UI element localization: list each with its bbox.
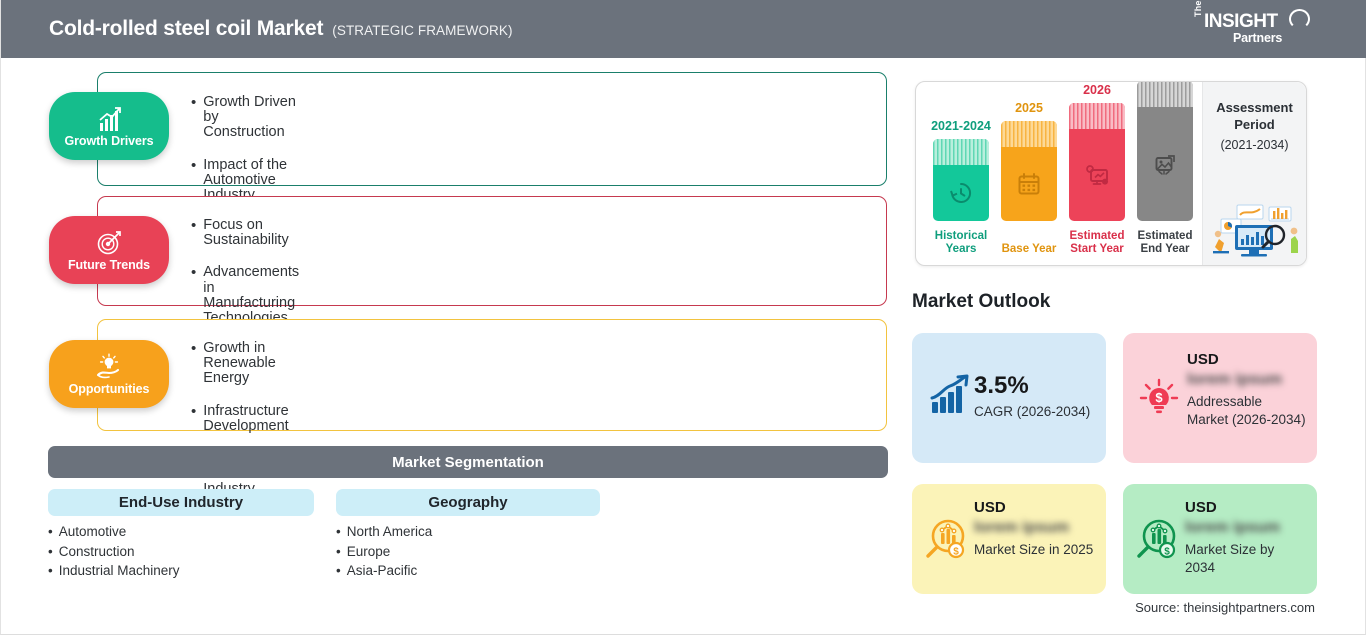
bar-stripe-top: [1069, 103, 1125, 129]
bar-shape: [1001, 121, 1057, 221]
outlook-card-market-size-2034[interactable]: $ USD lorem ipsum Market Size by 2034: [1123, 484, 1317, 594]
cagr-text-group: 3.5% CAGR (2026-2034): [974, 371, 1090, 421]
svg-text:$: $: [1155, 390, 1163, 405]
logo-arc-icon: [1289, 9, 1310, 29]
outlook-card-market-size-2025[interactable]: $ USD lorem ipsum Market Size in 2025: [912, 484, 1106, 594]
analytics-dashboard-illustration: [1207, 203, 1303, 261]
bar-body: [1001, 147, 1057, 221]
future-trends-label: Future Trends: [68, 258, 150, 272]
list-item: •Construction: [48, 545, 314, 559]
bullet-item: •Growth in Renewable Energy: [191, 341, 289, 387]
bar-year-label: 2026: [1066, 83, 1128, 97]
future-trends-badge[interactable]: Future Trends: [49, 216, 169, 284]
market-size-2034-text-group: USD lorem ipsum Market Size by 2034: [1181, 498, 1307, 577]
monitor-gear-icon: [1084, 162, 1110, 188]
target-dart-icon: [94, 229, 124, 257]
hand-lightbulb-icon: [94, 353, 124, 381]
market-size-2025-text-group: USD lorem ipsum Market Size in 2025: [970, 498, 1093, 559]
source-attribution: Source: theinsightpartners.com: [1135, 600, 1315, 615]
growth-drivers-badge[interactable]: Growth Drivers: [49, 92, 169, 160]
infographic-page: Cold-rolled steel coil Market (STRATEGIC…: [0, 0, 1366, 635]
bar-stripe-top: [933, 139, 989, 165]
outlook-card-addressable-market[interactable]: $ USD lorem ipsum Addressable Market (20…: [1123, 333, 1317, 463]
bar-body: [933, 165, 989, 221]
magnifier-chart-dollar-icon: $: [922, 516, 970, 564]
segment-header-geography: Geography: [336, 489, 600, 516]
bar-chart-arrow-icon: [94, 105, 124, 133]
bullet-item: •Infrastructure Development: [191, 404, 289, 434]
market-size-2025-caption: Market Size in 2025: [974, 541, 1093, 559]
assessment-period-chart: 2021-2024 Historical Years 2025: [915, 81, 1307, 266]
assessment-period-panel: Assessment Period (2021-2034): [1202, 82, 1306, 266]
list-item: •Automotive: [48, 525, 314, 539]
assessment-period-title: Assessment Period: [1203, 100, 1306, 134]
market-size-2025-value-blurred: lorem ipsum: [974, 519, 1093, 537]
list-item: •Industrial Machinery: [48, 564, 314, 578]
bar-stripe-top: [1001, 121, 1057, 147]
calendar-icon: [1016, 171, 1042, 197]
bar-chart-growth-icon: [926, 371, 974, 419]
bar-body: [1069, 129, 1125, 221]
bar-stripe-top: [1137, 81, 1193, 107]
page-subtitle: (STRATEGIC FRAMEWORK): [332, 23, 512, 38]
page-title: Cold-rolled steel coil Market: [49, 17, 323, 41]
logo-insight-text: INSIGHT: [1204, 11, 1278, 33]
bullet-item: •Advancements in Manufacturing Technolog…: [191, 265, 299, 326]
magnifier-chart-dollar-icon: $: [1133, 516, 1181, 564]
addressable-usd-label: USD: [1187, 352, 1307, 367]
addressable-caption: Addressable Market (2026-2034): [1187, 393, 1307, 429]
addressable-value-blurred: lorem ipsum: [1187, 371, 1307, 389]
segment-list-end-use-industry: •Automotive •Construction •Industrial Ma…: [48, 525, 314, 578]
opportunities-label: Opportunities: [69, 382, 150, 396]
svg-text:$: $: [1164, 547, 1170, 558]
opportunities-badge[interactable]: Opportunities: [49, 340, 169, 408]
market-size-2034-caption: Market Size by 2034: [1185, 541, 1307, 577]
list-item: •Asia-Pacific: [336, 564, 600, 578]
market-size-2025-usd-label: USD: [974, 500, 1093, 515]
bar-body: [1137, 107, 1193, 221]
image-chart-icon: [1152, 151, 1178, 177]
segment-header-end-use-industry: End-Use Industry: [48, 489, 314, 516]
logo-partners-text: Partners: [1233, 31, 1282, 45]
list-item: •Europe: [336, 545, 600, 559]
market-outlook-title: Market Outlook: [912, 291, 1050, 313]
bar-year-label: 2021-2024: [930, 119, 992, 133]
market-size-2034-value-blurred: lorem ipsum: [1185, 519, 1307, 537]
bar-caption: Estimated End Year: [1128, 230, 1202, 257]
bar-shape: [933, 139, 989, 221]
market-segmentation-header: Market Segmentation: [48, 446, 888, 478]
bullet-item: •Growth Driven by Construction: [191, 95, 299, 141]
bar-caption: Base Year: [992, 243, 1066, 257]
clock-history-icon: [948, 180, 974, 206]
market-size-2034-usd-label: USD: [1185, 500, 1307, 515]
svg-text:$: $: [953, 547, 959, 558]
addressable-text-group: USD lorem ipsum Addressable Market (2026…: [1183, 350, 1307, 429]
market-segmentation-label: Market Segmentation: [392, 454, 544, 471]
cagr-value: 3.5%: [974, 373, 1090, 398]
segment-list-geography: •North America •Europe •Asia-Pacific: [336, 525, 600, 578]
bar-caption: Estimated Start Year: [1060, 230, 1134, 257]
outlook-card-cagr[interactable]: 3.5% CAGR (2026-2034): [912, 333, 1106, 463]
cagr-caption: CAGR (2026-2034): [974, 403, 1090, 421]
list-item: •North America: [336, 525, 600, 539]
logo-the-text: The: [1193, 0, 1203, 17]
bullet-item: •Focus on Sustainability: [191, 218, 299, 248]
chart-bars-area: 2021-2024 Historical Years 2025: [916, 82, 1204, 266]
bar-year-label: 2025: [998, 101, 1060, 115]
lightbulb-dollar-icon: $: [1135, 374, 1183, 422]
segment-column-geography: Geography •North America •Europe •Asia-P…: [336, 489, 600, 578]
header-title-group: Cold-rolled steel coil Market (STRATEGIC…: [49, 17, 513, 41]
bar-shape: [1069, 103, 1125, 221]
growth-drivers-label: Growth Drivers: [65, 134, 154, 148]
page-header: Cold-rolled steel coil Market (STRATEGIC…: [1, 0, 1366, 58]
insight-partners-logo: The INSIGHT Partners: [1193, 9, 1311, 49]
bar-shape: [1137, 81, 1193, 221]
bar-caption: Historical Years: [924, 230, 998, 257]
assessment-period-range: (2021-2034): [1203, 138, 1306, 152]
segment-column-end-use-industry: End-Use Industry •Automotive •Constructi…: [48, 489, 314, 578]
